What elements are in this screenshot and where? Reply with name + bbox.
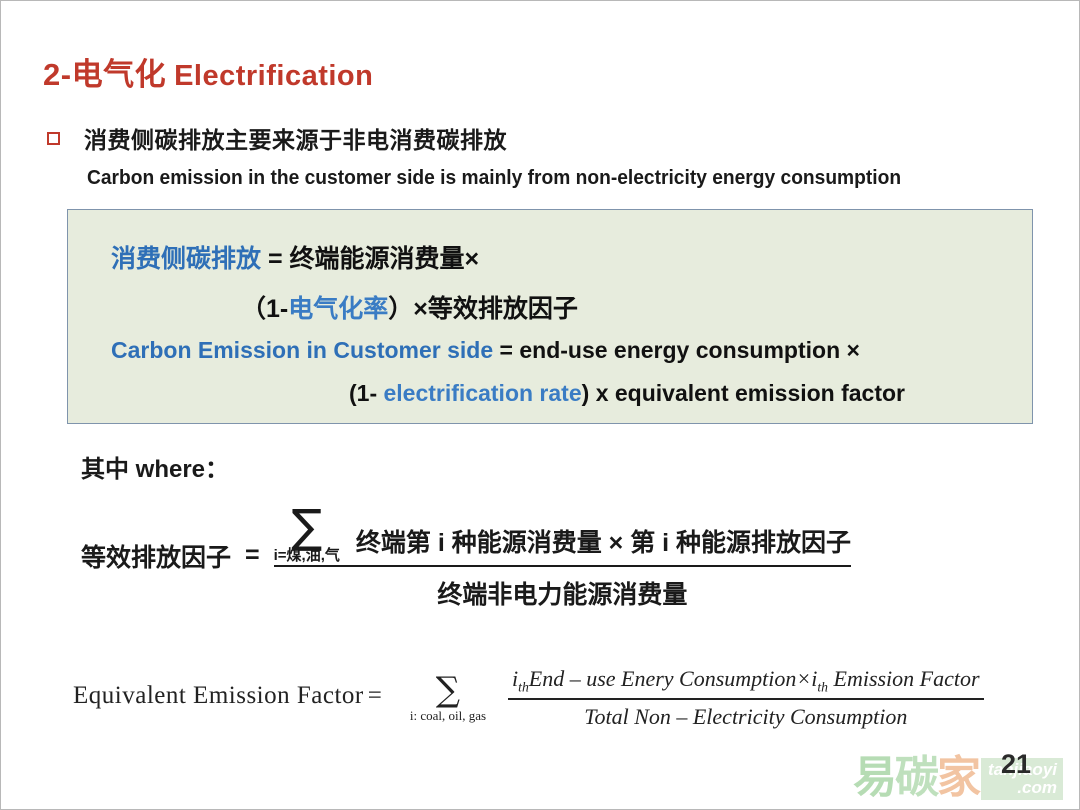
formula-line-en-2: (1- electrification rate) x equivalent e…	[349, 380, 905, 407]
watermark-site-domain: .com	[981, 779, 1057, 797]
formula-line-cn-1: 消费侧碳排放 = 终端能源消费量×	[111, 239, 479, 275]
formula-line-en-2-post: ) x equivalent emission factor	[582, 380, 905, 406]
formula-line-cn-1-rest: = 终端能源消费量×	[261, 245, 479, 273]
cn-numerator-text: 终端第 i 种能源消费量 × 第 i 种能源排放因子	[356, 523, 851, 563]
formula-line-cn-2-post: ）×等效排放因子	[388, 295, 578, 323]
sigma-icon-en: ∑	[436, 674, 460, 706]
equivalent-emission-factor-formula-cn: 等效排放因子 = ∑ i=煤,油,气 终端第 i 种能源消费量 × 第 i 种能…	[81, 506, 851, 611]
formula-line-cn-2-pre: （1-	[241, 295, 288, 323]
watermark-logo: 易碳家 tanjiaoyi .com	[853, 753, 1068, 805]
summation-block-cn: ∑ i=煤,油,气	[274, 506, 340, 563]
en-num-tail: Emission Factor	[828, 666, 980, 691]
formula-term-electrification-rate-en: electrification rate	[384, 380, 582, 406]
en-num-sub1: th	[518, 679, 529, 694]
page-title-cn: 2-电气化	[43, 57, 166, 92]
sigma-icon: ∑	[291, 506, 322, 547]
bullet-heading: 消费侧碳排放主要来源于非电消费碳排放	[47, 121, 507, 155]
formula-line-en-1-rest: = end-use energy consumption ×	[493, 337, 860, 363]
formula-line-cn-2: （1-电气化率）×等效排放因子	[241, 289, 578, 325]
page-number: 21	[1001, 749, 1031, 780]
cn-denominator-text: 终端非电力能源消费量	[274, 567, 851, 611]
formula-line-en-1: Carbon Emission in Customer side = end-u…	[111, 337, 860, 364]
sigma-subscript-en: i: coal, oil, gas	[410, 709, 486, 722]
bullet-heading-en: Carbon emission in the customer side is …	[87, 167, 901, 190]
watermark-char-2: 碳	[895, 753, 937, 802]
en-formula-fraction: ithEnd – use Enery Consumption×ith Emiss…	[508, 666, 984, 730]
en-denominator-text: Total Non – Electricity Consumption	[508, 700, 984, 730]
equivalent-emission-factor-formula-en: Equivalent Emission Factor = ∑ i: coal, …	[73, 666, 984, 730]
formula-term-consumer-emission-cn: 消费侧碳排放	[111, 245, 261, 273]
slide-canvas: 2-电气化Electrification 消费侧碳排放主要来源于非电消费碳排放 …	[0, 0, 1080, 810]
cn-formula-numerator: ∑ i=煤,油,气 终端第 i 种能源消费量 × 第 i 种能源排放因子	[274, 506, 851, 565]
page-title: 2-电气化Electrification	[43, 49, 373, 94]
where-label: 其中 where：	[81, 449, 229, 484]
watermark-char-1: 易	[853, 753, 895, 802]
square-bullet-icon	[47, 132, 60, 145]
en-numerator-text: ithEnd – use Enery Consumption×ith Emiss…	[508, 666, 984, 698]
formula-callout-box: 消费侧碳排放 = 终端能源消费量× （1-电气化率）×等效排放因子 Carbon…	[67, 209, 1033, 424]
en-num-mid: End – use Enery Consumption×	[529, 666, 812, 691]
cn-formula-equals: =	[245, 541, 260, 570]
watermark-char-3: 家	[937, 753, 979, 802]
watermark-chinese-text: 易碳家	[853, 753, 979, 803]
formula-term-electrification-rate-cn: 电气化率	[288, 295, 388, 323]
formula-term-consumer-emission-en: Carbon Emission in Customer side	[111, 337, 493, 363]
summation-block-en: ∑ i: coal, oil, gas	[410, 674, 486, 721]
sigma-subscript-cn: i=煤,油,气	[274, 548, 340, 563]
cn-formula-lhs: 等效排放因子	[81, 538, 231, 580]
bullet-heading-cn: 消费侧碳排放主要来源于非电消费碳排放	[84, 121, 507, 155]
en-formula-lhs: Equivalent Emission Factor	[73, 682, 364, 714]
page-title-en: Electrification	[174, 60, 373, 92]
en-formula-equals: =	[368, 682, 382, 710]
cn-formula-fraction: ∑ i=煤,油,气 终端第 i 种能源消费量 × 第 i 种能源排放因子 终端非…	[274, 506, 851, 611]
en-num-sub2: th	[817, 679, 828, 694]
formula-line-en-2-pre: (1-	[349, 380, 384, 406]
